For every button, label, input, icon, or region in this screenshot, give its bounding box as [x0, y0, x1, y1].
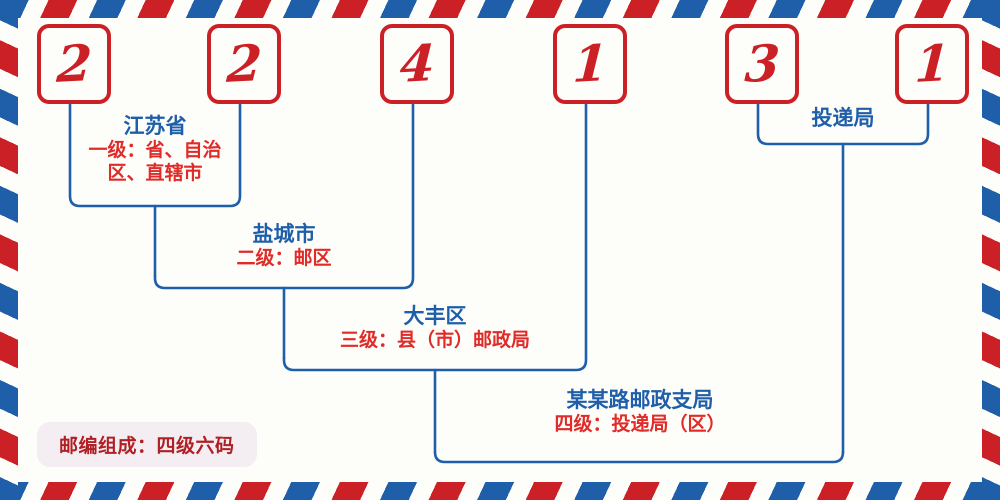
airmail-border-left: [0, 0, 18, 500]
node-label-level-1: 江苏省 一级：省、自治区、直辖市: [79, 114, 231, 185]
node-sub-level-3: 三级：县（市）邮政局: [295, 329, 575, 352]
postcode-digit-value: 1: [913, 38, 951, 90]
node-label-level-3: 大丰区 三级：县（市）邮政局: [295, 304, 575, 352]
postcode-digit-box-3[interactable]: 4: [380, 24, 454, 104]
legend-badge-text: 邮编组成：四级六码: [59, 435, 235, 457]
postcode-digit-box-1[interactable]: 2: [37, 24, 111, 104]
airmail-border-right: [982, 0, 1000, 500]
node-sub-level-4: 四级：投递局（区）: [515, 413, 765, 436]
postcode-digit-value: 2: [55, 38, 93, 90]
postcode-digit-box-2[interactable]: 2: [207, 24, 281, 104]
postcode-digit-value: 3: [743, 38, 781, 90]
postcode-digit-box-5[interactable]: 3: [725, 24, 799, 104]
wire-level-4-bracket: [435, 452, 843, 462]
postcode-digit-value: 2: [225, 38, 263, 90]
node-sub-level-1: 一级：省、自治区、直辖市: [79, 139, 231, 185]
node-label-level-2: 盐城市 二级：邮区: [184, 222, 384, 270]
airmail-border-top: [0, 0, 1000, 18]
node-sub-level-2: 二级：邮区: [184, 247, 384, 270]
node-title-delivery-office: 投递局: [768, 106, 918, 131]
node-title-level-3: 大丰区: [295, 304, 575, 329]
node-label-level-4: 某某路邮政支局 四级：投递局（区）: [515, 388, 765, 436]
airmail-border-bottom: [0, 482, 1000, 500]
postcode-digit-value: 4: [398, 38, 436, 90]
node-title-level-1: 江苏省: [79, 114, 231, 139]
postcode-digit-box-4[interactable]: 1: [553, 24, 627, 104]
node-title-level-4: 某某路邮政支局: [515, 388, 765, 413]
node-label-delivery-office: 投递局: [768, 106, 918, 131]
postcode-digit-box-6[interactable]: 1: [895, 24, 969, 104]
legend-badge: 邮编组成：四级六码: [37, 422, 257, 467]
postcode-diagram: 2 2 4 1 3 1 江苏省 一级：省、自治区、直辖市 盐城市 二级：邮区 大…: [0, 0, 1000, 500]
node-title-level-2: 盐城市: [184, 222, 384, 247]
postcode-digit-value: 1: [571, 38, 609, 90]
